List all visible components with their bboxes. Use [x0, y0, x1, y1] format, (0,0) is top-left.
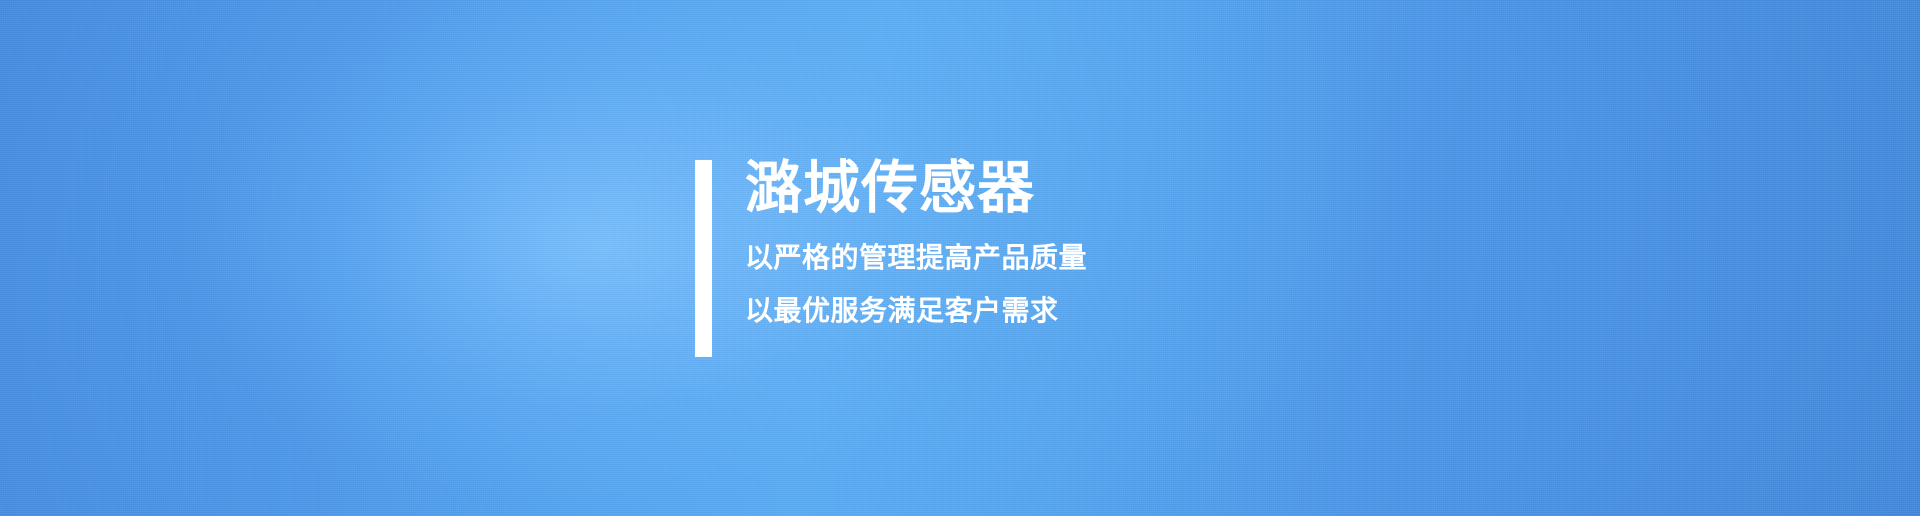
banner-text-column: 潞城传感器 以严格的管理提高产品质量 以最优服务满足客户需求	[745, 160, 1087, 325]
banner-content: 潞城传感器 以严格的管理提高产品质量 以最优服务满足客户需求	[695, 160, 1087, 357]
hero-banner: 潞城传感器 以严格的管理提高产品质量 以最优服务满足客户需求	[0, 0, 1920, 516]
banner-headline: 潞城传感器	[745, 160, 1087, 217]
banner-subtitle-line-2: 以最优服务满足客户需求	[745, 297, 1087, 325]
banner-subtitle-line-1: 以严格的管理提高产品质量	[745, 244, 1087, 272]
vertical-accent-bar-icon	[695, 160, 712, 357]
